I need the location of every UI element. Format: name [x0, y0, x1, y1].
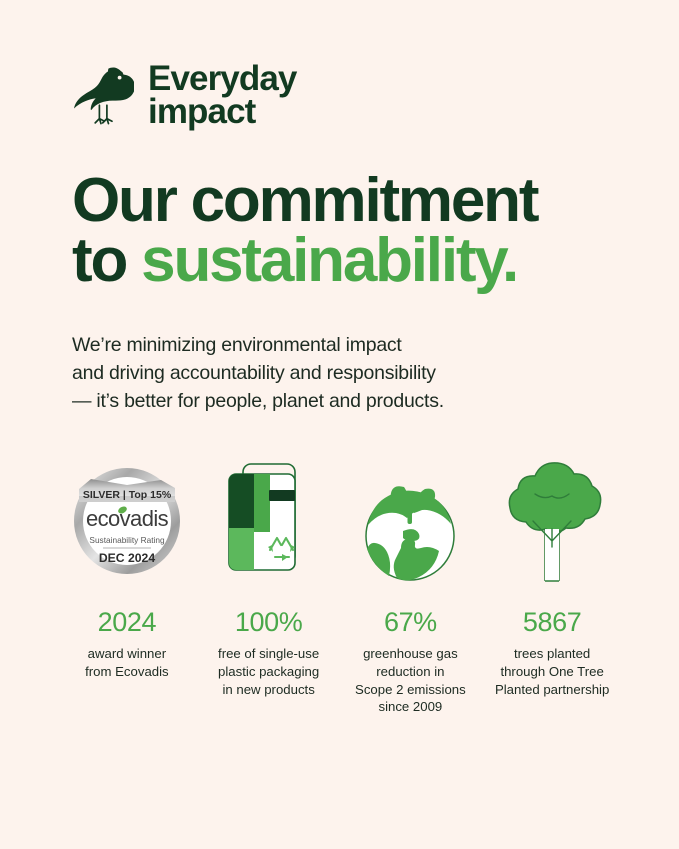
stat-caption: trees planted through One Tree Planted p…: [481, 645, 623, 698]
stat-item-trees: 5867 trees planted through One Tree Plan…: [481, 455, 623, 698]
recyclable-packaging-icon: [198, 455, 340, 585]
stat-caption: greenhouse gas reduction in Scope 2 emis…: [340, 645, 482, 716]
brand-name-line2: impact: [148, 95, 296, 128]
badge-date: DEC 2024: [99, 551, 155, 565]
stat-value: 2024: [56, 607, 198, 638]
stat-caption-line: Planted partnership: [481, 681, 623, 699]
stat-value: 100%: [198, 607, 340, 638]
tree-icon: [481, 455, 623, 585]
badge-subtitle: Sustainability Rating: [89, 535, 165, 545]
brand-name-line1: Everyday: [148, 62, 296, 95]
brand-logo: Everyday impact: [72, 0, 607, 129]
intro-line3: — it’s better for people, planet and pro…: [72, 388, 607, 416]
stat-caption-line: reduction in: [340, 663, 482, 681]
ecovadis-medal-icon: SILVER | Top 15% ecovadis Sustainability…: [56, 455, 198, 585]
sustainability-infographic: Everyday impact Our commitment to sustai…: [0, 0, 679, 849]
stat-item-packaging: 100% free of single-use plastic packagin…: [198, 455, 340, 698]
intro-line1: We’re minimizing environmental impact: [72, 332, 607, 360]
headline-line2-prefix: to: [72, 226, 141, 295]
stat-caption-line: Scope 2 emissions: [340, 681, 482, 699]
stat-item-ecovadis: SILVER | Top 15% ecovadis Sustainability…: [56, 455, 198, 681]
bird-icon: [72, 62, 134, 128]
intro-line2: and driving accountability and responsib…: [72, 360, 607, 388]
headline-line1: Our commitment: [72, 166, 537, 235]
stat-caption-line: from Ecovadis: [56, 663, 198, 681]
stat-caption: free of single-use plastic packaging in …: [198, 645, 340, 698]
intro-paragraph: We’re minimizing environmental impact an…: [72, 332, 607, 415]
stat-caption-line: plastic packaging: [198, 663, 340, 681]
stat-caption-line: trees planted: [481, 645, 623, 663]
stat-caption-line: since 2009: [340, 698, 482, 716]
page-title: Our commitment to sustainability.: [72, 171, 607, 291]
stats-row: SILVER | Top 15% ecovadis Sustainability…: [56, 455, 623, 716]
stat-caption-line: greenhouse gas: [340, 645, 482, 663]
stat-item-emissions: 67% greenhouse gas reduction in Scope 2 …: [340, 455, 482, 716]
brand-wordmark: Everyday impact: [148, 62, 296, 129]
globe-sprout-icon: [340, 455, 482, 585]
headline-line2-accent: sustainability.: [141, 226, 517, 295]
badge-wordmark: ecovadis: [86, 506, 169, 531]
stat-value: 5867: [481, 607, 623, 638]
stat-caption-line: award winner: [56, 645, 198, 663]
stat-value: 67%: [340, 607, 482, 638]
badge-ribbon-level: SILVER | Top 15%: [83, 489, 172, 501]
stat-caption: award winner from Ecovadis: [56, 645, 198, 681]
stat-caption-line: free of single-use: [198, 645, 340, 663]
stat-caption-line: through One Tree: [481, 663, 623, 681]
stat-caption-line: in new products: [198, 681, 340, 699]
